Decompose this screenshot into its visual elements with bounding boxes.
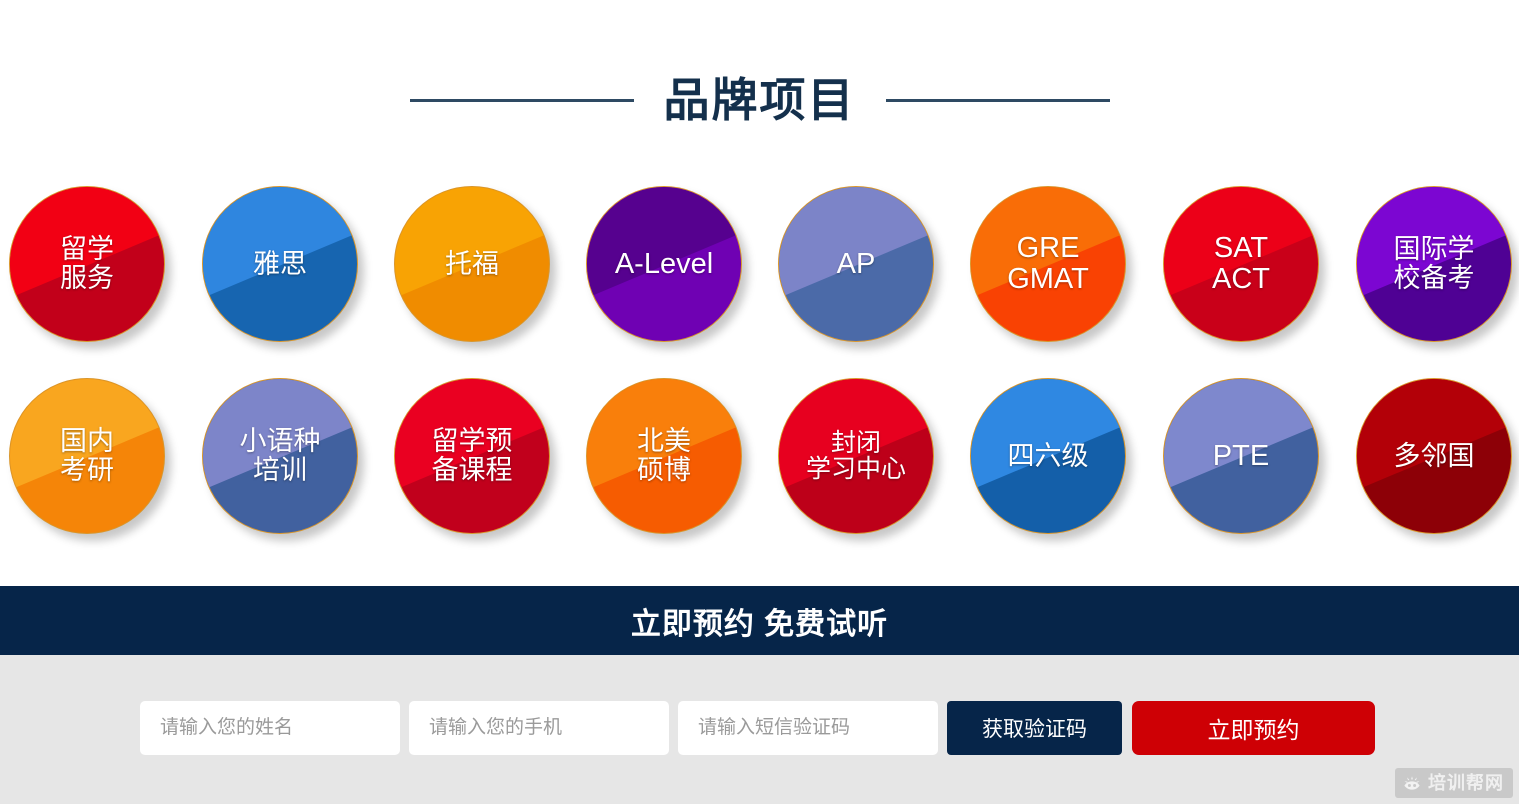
program-bubble-north-america-master-phd[interactable]: 北美硕博 bbox=[586, 378, 742, 534]
program-bubble-cet-4-6[interactable]: 四六级 bbox=[970, 378, 1126, 534]
get-code-button[interactable]: 获取验证码 bbox=[947, 701, 1122, 755]
brand-programs-page: 品牌项目 留学服务雅思托福A-LevelAPGREGMATSATACT国际学校备… bbox=[0, 0, 1519, 804]
bubble-face bbox=[1163, 378, 1319, 534]
program-bubble-a-level[interactable]: A-Level bbox=[586, 186, 742, 342]
program-bubble-closed-study-center[interactable]: 封闭学习中心 bbox=[778, 378, 934, 534]
program-bubble-duolingo[interactable]: 多邻国 bbox=[1356, 378, 1512, 534]
bubble-face bbox=[202, 186, 358, 342]
program-bubble-pte[interactable]: PTE bbox=[1163, 378, 1319, 534]
bubble-face bbox=[778, 186, 934, 342]
bubble-face bbox=[9, 378, 165, 534]
bubble-face bbox=[1356, 186, 1512, 342]
title-rule-left bbox=[410, 99, 634, 102]
appointment-form: 获取验证码 立即预约 bbox=[0, 655, 1519, 804]
program-bubble-minority-language-training[interactable]: 小语种培训 bbox=[202, 378, 358, 534]
page-title: 品牌项目 bbox=[664, 77, 856, 123]
cta-banner: 立即预约 免费试听 bbox=[0, 586, 1519, 655]
bubble-face bbox=[9, 186, 165, 342]
bubble-face bbox=[970, 378, 1126, 534]
bubble-face bbox=[202, 378, 358, 534]
bubble-face bbox=[586, 378, 742, 534]
watermark-label: 培训帮网 bbox=[1428, 774, 1504, 792]
bubble-face bbox=[394, 378, 550, 534]
site-watermark: 培训帮网 bbox=[1395, 768, 1513, 798]
program-bubble-ielts[interactable]: 雅思 bbox=[202, 186, 358, 342]
cta-banner-text: 立即预约 免费试听 bbox=[631, 599, 888, 643]
bubble-face bbox=[586, 186, 742, 342]
bubble-face bbox=[394, 186, 550, 342]
program-bubble-overseas-study-service[interactable]: 留学服务 bbox=[9, 186, 165, 342]
program-bubble-domestic-postgrad-exam[interactable]: 国内考研 bbox=[9, 378, 165, 534]
title-rule-right bbox=[886, 99, 1110, 102]
name-input[interactable] bbox=[140, 701, 400, 755]
bubble-face bbox=[970, 186, 1126, 342]
sun-eye-icon bbox=[1402, 773, 1422, 793]
program-bubble-ap[interactable]: AP bbox=[778, 186, 934, 342]
phone-input[interactable] bbox=[409, 701, 669, 755]
program-bubble-international-school-prep[interactable]: 国际学校备考 bbox=[1356, 186, 1512, 342]
program-bubble-sat-act[interactable]: SATACT bbox=[1163, 186, 1319, 342]
bubble-face bbox=[1356, 378, 1512, 534]
page-title-block: 品牌项目 bbox=[0, 62, 1519, 138]
program-bubble-toefl[interactable]: 托福 bbox=[394, 186, 550, 342]
program-bubble-gre-gmat[interactable]: GREGMAT bbox=[970, 186, 1126, 342]
program-bubble-study-abroad-prep-course[interactable]: 留学预备课程 bbox=[394, 378, 550, 534]
program-row-2: 国内考研小语种培训留学预备课程北美硕博封闭学习中心四六级PTE多邻国 bbox=[0, 368, 1519, 548]
program-row-1: 留学服务雅思托福A-LevelAPGREGMATSATACT国际学校备考 bbox=[0, 176, 1519, 356]
program-grid: 留学服务雅思托福A-LevelAPGREGMATSATACT国际学校备考 国内考… bbox=[0, 176, 1519, 560]
form-fields-row: 获取验证码 立即预约 bbox=[140, 701, 1375, 755]
sms-code-input[interactable] bbox=[678, 701, 938, 755]
bubble-face bbox=[1163, 186, 1319, 342]
submit-appointment-button[interactable]: 立即预约 bbox=[1132, 701, 1375, 755]
bubble-face bbox=[778, 378, 934, 534]
